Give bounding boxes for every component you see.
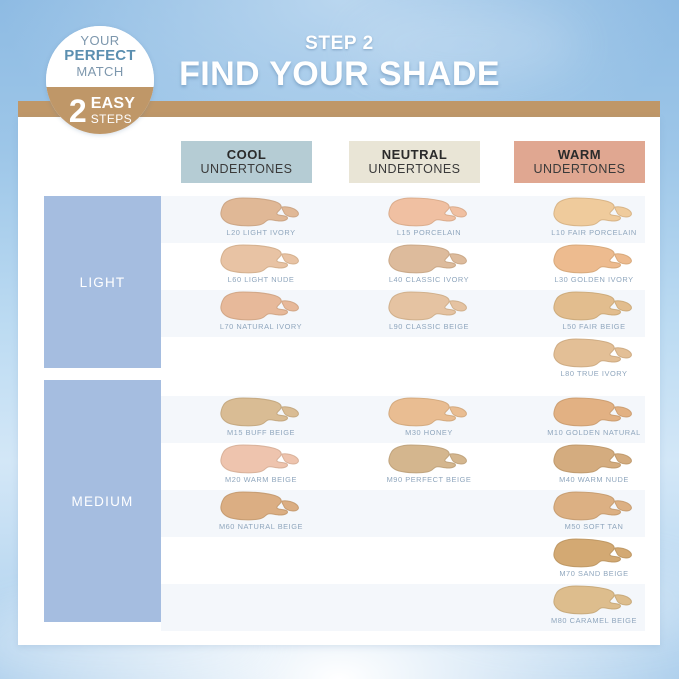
shade-name-label: M70 SAND BEIGE [514, 569, 674, 578]
column-title: NEUTRAL [382, 148, 448, 163]
badge-line-1: YOUR [80, 34, 119, 48]
shade-swatch-icon [552, 397, 638, 427]
shade-name-label: L70 NATURAL IVORY [181, 322, 341, 331]
perfect-match-badge: YOUR PERFECT MATCH 2 EASY STEPS [46, 26, 154, 134]
badge-easy-label: EASY [91, 96, 135, 112]
badge-bottom: 2 EASY STEPS [46, 87, 154, 134]
shade-cell[interactable]: M30 HONEY [349, 396, 509, 443]
shade-cell[interactable]: L40 CLASSIC IVORY [349, 243, 509, 290]
shade-name-label: L90 CLASSIC BEIGE [349, 322, 509, 331]
column-header-warm: WARM UNDERTONES [514, 141, 645, 183]
shade-cell[interactable]: M15 BUFF BEIGE [181, 396, 341, 443]
level-label-medium: MEDIUM [44, 380, 161, 622]
shade-swatch-icon [219, 244, 305, 274]
shade-name-label: L10 FAIR PORCELAIN [514, 228, 674, 237]
shade-cell[interactable]: L20 LIGHT IVORY [181, 196, 341, 243]
shade-name-label: M80 CARAMEL BEIGE [514, 616, 674, 625]
shade-name-label: L15 PORCELAIN [349, 228, 509, 237]
column-subtitle: UNDERTONES [200, 162, 292, 176]
level-label-text: MEDIUM [72, 494, 134, 509]
shade-cell[interactable]: M60 NATURAL BEIGE [181, 490, 341, 537]
shade-cell[interactable]: M50 SOFT TAN [514, 490, 674, 537]
shade-name-label: M50 SOFT TAN [514, 522, 674, 531]
shade-cell[interactable]: L10 FAIR PORCELAIN [514, 196, 674, 243]
shade-swatch-icon [552, 197, 638, 227]
shade-swatch-icon [219, 491, 305, 521]
shade-cell[interactable]: L60 LIGHT NUDE [181, 243, 341, 290]
shade-swatch-icon [219, 397, 305, 427]
shade-cell[interactable]: L70 NATURAL IVORY [181, 290, 341, 337]
shade-swatch-icon [219, 291, 305, 321]
badge-step-count: 2 [69, 95, 87, 127]
badge-line-2: PERFECT [64, 48, 135, 64]
shade-name-label: L50 FAIR BEIGE [514, 322, 674, 331]
badge-steps-label: STEPS [91, 113, 135, 125]
column-subtitle: UNDERTONES [533, 162, 625, 176]
badge-top: YOUR PERFECT MATCH [46, 26, 154, 87]
shade-swatch-icon [552, 338, 638, 368]
shade-cell[interactable]: M20 WARM BEIGE [181, 443, 341, 490]
shade-swatch-icon [387, 397, 473, 427]
shade-finder-graphic: STEP 2 FIND YOUR SHADE COOL UNDERTONES N… [0, 0, 679, 679]
column-header-cool: COOL UNDERTONES [181, 141, 312, 183]
shade-swatch-icon [387, 244, 473, 274]
column-headers: COOL UNDERTONES NEUTRAL UNDERTONES WARM … [18, 141, 660, 183]
shade-name-label: L40 CLASSIC IVORY [349, 275, 509, 284]
shade-name-label: M60 NATURAL BEIGE [181, 522, 341, 531]
column-title: COOL [227, 148, 267, 163]
shade-cell[interactable]: L15 PORCELAIN [349, 196, 509, 243]
shade-chart-card: COOL UNDERTONES NEUTRAL UNDERTONES WARM … [18, 117, 660, 645]
shade-name-label: L60 LIGHT NUDE [181, 275, 341, 284]
shade-name-label: L30 GOLDEN IVORY [514, 275, 674, 284]
shade-name-label: L20 LIGHT IVORY [181, 228, 341, 237]
column-title: WARM [558, 148, 601, 163]
column-subtitle: UNDERTONES [368, 162, 460, 176]
shade-name-label: M90 PERFECT BEIGE [349, 475, 509, 484]
shade-swatch-icon [552, 244, 638, 274]
shade-cell[interactable]: M10 GOLDEN NATURAL [514, 396, 674, 443]
shade-swatch-icon [552, 538, 638, 568]
level-label-light: LIGHT [44, 196, 161, 368]
shade-swatch-icon [219, 197, 305, 227]
shade-swatch-icon [552, 291, 638, 321]
shade-cell[interactable]: L50 FAIR BEIGE [514, 290, 674, 337]
shade-grid: L20 LIGHT IVORYL15 PORCELAINL10 FAIR POR… [161, 196, 645, 622]
shade-swatch-icon [387, 291, 473, 321]
shade-name-label: M15 BUFF BEIGE [181, 428, 341, 437]
shade-cell[interactable]: M80 CARAMEL BEIGE [514, 584, 674, 631]
shade-name-label: M30 HONEY [349, 428, 509, 437]
shade-swatch-icon [219, 444, 305, 474]
shade-swatch-icon [387, 197, 473, 227]
shade-swatch-icon [552, 491, 638, 521]
shade-cell[interactable]: L80 TRUE IVORY [514, 337, 674, 384]
shade-name-label: M10 GOLDEN NATURAL [514, 428, 674, 437]
shade-name-label: L80 TRUE IVORY [514, 369, 674, 378]
shade-swatch-icon [387, 444, 473, 474]
shade-cell[interactable]: M40 WARM NUDE [514, 443, 674, 490]
shade-swatch-icon [552, 444, 638, 474]
shade-cell[interactable]: M90 PERFECT BEIGE [349, 443, 509, 490]
column-header-neutral: NEUTRAL UNDERTONES [349, 141, 480, 183]
shade-swatch-icon [552, 585, 638, 615]
shade-cell[interactable]: L30 GOLDEN IVORY [514, 243, 674, 290]
shade-cell[interactable]: M70 SAND BEIGE [514, 537, 674, 584]
shade-cell[interactable]: L90 CLASSIC BEIGE [349, 290, 509, 337]
shade-name-label: M20 WARM BEIGE [181, 475, 341, 484]
shade-table: COOL UNDERTONES NEUTRAL UNDERTONES WARM … [18, 117, 660, 645]
level-label-text: LIGHT [80, 275, 126, 290]
badge-line-3: MATCH [76, 65, 123, 79]
shade-name-label: M40 WARM NUDE [514, 475, 674, 484]
